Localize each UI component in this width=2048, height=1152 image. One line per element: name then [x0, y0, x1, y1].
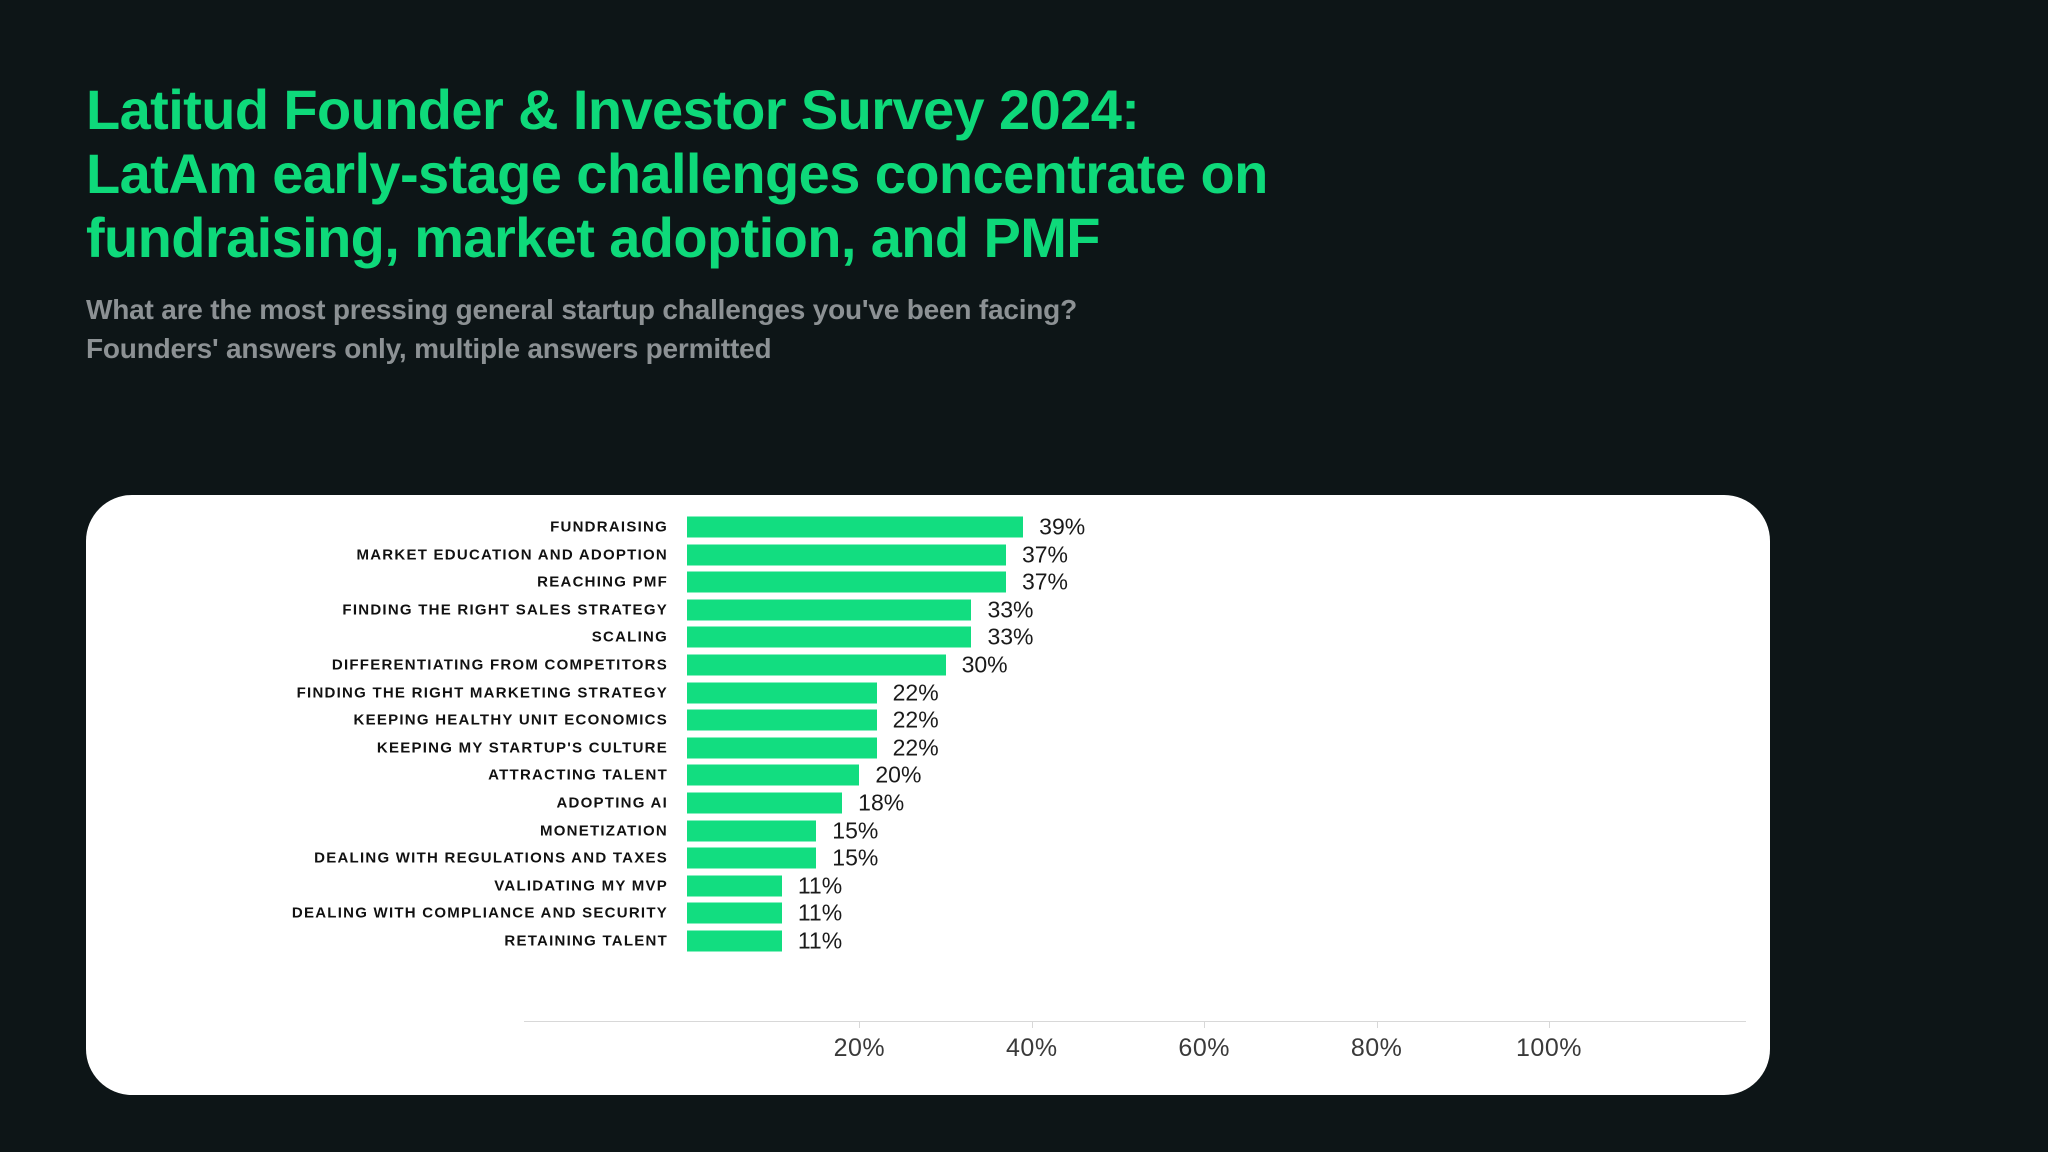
x-axis-tick — [1377, 1021, 1378, 1028]
bar — [687, 793, 842, 814]
category-label: FINDING THE RIGHT SALES STRATEGY — [342, 602, 668, 617]
category-label: MONETIZATION — [540, 823, 668, 838]
bar-value-label: 37% — [1022, 543, 1068, 566]
chart-row: FINDING THE RIGHT MARKETING STRATEGY22% — [86, 679, 1770, 707]
chart-row: MONETIZATION15% — [86, 817, 1770, 845]
page-subtitle: What are the most pressing general start… — [86, 291, 1646, 367]
bar-value-label: 20% — [875, 764, 921, 787]
x-axis-tick — [1549, 1021, 1550, 1028]
chart-row: VALIDATING MY MVP11% — [86, 872, 1770, 900]
chart-row: MARKET EDUCATION AND ADOPTION37% — [86, 541, 1770, 569]
bar-value-label: 18% — [858, 792, 904, 815]
x-axis-line — [524, 1021, 1746, 1022]
slide-root: Latitud Founder & Investor Survey 2024: … — [0, 0, 2048, 1152]
bar-value-label: 15% — [832, 847, 878, 870]
bar-value-label: 30% — [962, 654, 1008, 677]
bar — [687, 544, 1006, 565]
bar-value-label: 11% — [798, 902, 842, 925]
category-label: DEALING WITH REGULATIONS AND TAXES — [314, 851, 668, 866]
category-label: MARKET EDUCATION AND ADOPTION — [356, 547, 668, 562]
bar — [687, 765, 859, 786]
chart-row: DEALING WITH REGULATIONS AND TAXES15% — [86, 844, 1770, 872]
bar — [687, 848, 816, 869]
bar — [687, 710, 877, 731]
category-label: ATTRACTING TALENT — [488, 768, 668, 783]
chart-row: KEEPING MY STARTUP'S CULTURE22% — [86, 734, 1770, 762]
category-label: KEEPING MY STARTUP'S CULTURE — [377, 740, 668, 755]
chart-card: FUNDRAISING39%MARKET EDUCATION AND ADOPT… — [86, 495, 1770, 1095]
bar-value-label: 11% — [798, 930, 842, 953]
bar — [687, 655, 946, 676]
x-axis-tick-label: 20% — [834, 1034, 886, 1063]
bar — [687, 820, 816, 841]
bar-value-label: 22% — [893, 681, 939, 704]
bar-value-label: 22% — [893, 709, 939, 732]
chart-row: FUNDRAISING39% — [86, 513, 1770, 541]
chart-row: DIFFERENTIATING FROM COMPETITORS30% — [86, 651, 1770, 679]
chart-row: RETAINING TALENT11% — [86, 927, 1770, 955]
x-axis-tick-label: 100% — [1516, 1034, 1582, 1063]
bar — [687, 903, 782, 924]
chart-row: KEEPING HEALTHY UNIT ECONOMICS22% — [86, 706, 1770, 734]
x-axis-tick — [859, 1021, 860, 1028]
category-label: DEALING WITH COMPLIANCE AND SECURITY — [292, 906, 668, 921]
x-axis-tick-label: 60% — [1178, 1034, 1230, 1063]
category-label: FUNDRAISING — [550, 520, 668, 535]
category-label: ADOPTING AI — [556, 796, 668, 811]
chart-row: ATTRACTING TALENT20% — [86, 761, 1770, 789]
header: Latitud Founder & Investor Survey 2024: … — [86, 78, 1646, 368]
bar-chart: FUNDRAISING39%MARKET EDUCATION AND ADOPT… — [86, 495, 1770, 1095]
category-label: RETAINING TALENT — [504, 934, 668, 949]
chart-row: ADOPTING AI18% — [86, 789, 1770, 817]
bar-value-label: 15% — [832, 819, 878, 842]
bar-value-label: 11% — [798, 874, 842, 897]
page-title: Latitud Founder & Investor Survey 2024: … — [86, 78, 1646, 269]
bar — [687, 572, 1006, 593]
bar-value-label: 33% — [987, 626, 1033, 649]
x-axis-tick-label: 40% — [1006, 1034, 1058, 1063]
category-label: KEEPING HEALTHY UNIT ECONOMICS — [354, 713, 668, 728]
bar-value-label: 39% — [1039, 516, 1085, 539]
bar — [687, 875, 782, 896]
chart-row: SCALING33% — [86, 623, 1770, 651]
category-label: VALIDATING MY MVP — [494, 878, 668, 893]
x-axis-tick — [1032, 1021, 1033, 1028]
bar — [687, 599, 971, 620]
bar-value-label: 22% — [893, 736, 939, 759]
bar-value-label: 37% — [1022, 571, 1068, 594]
category-label: DIFFERENTIATING FROM COMPETITORS — [332, 658, 668, 673]
chart-row: REACHING PMF37% — [86, 568, 1770, 596]
x-axis-tick — [1204, 1021, 1205, 1028]
chart-row: DEALING WITH COMPLIANCE AND SECURITY11% — [86, 899, 1770, 927]
chart-row: FINDING THE RIGHT SALES STRATEGY33% — [86, 596, 1770, 624]
bar — [687, 517, 1023, 538]
bar-value-label: 33% — [987, 598, 1033, 621]
category-label: FINDING THE RIGHT MARKETING STRATEGY — [297, 685, 668, 700]
bar — [687, 682, 877, 703]
bar — [687, 627, 971, 648]
category-label: REACHING PMF — [537, 575, 668, 590]
x-axis-tick-label: 80% — [1351, 1034, 1403, 1063]
bar — [687, 737, 877, 758]
bar — [687, 931, 782, 952]
category-label: SCALING — [592, 630, 668, 645]
